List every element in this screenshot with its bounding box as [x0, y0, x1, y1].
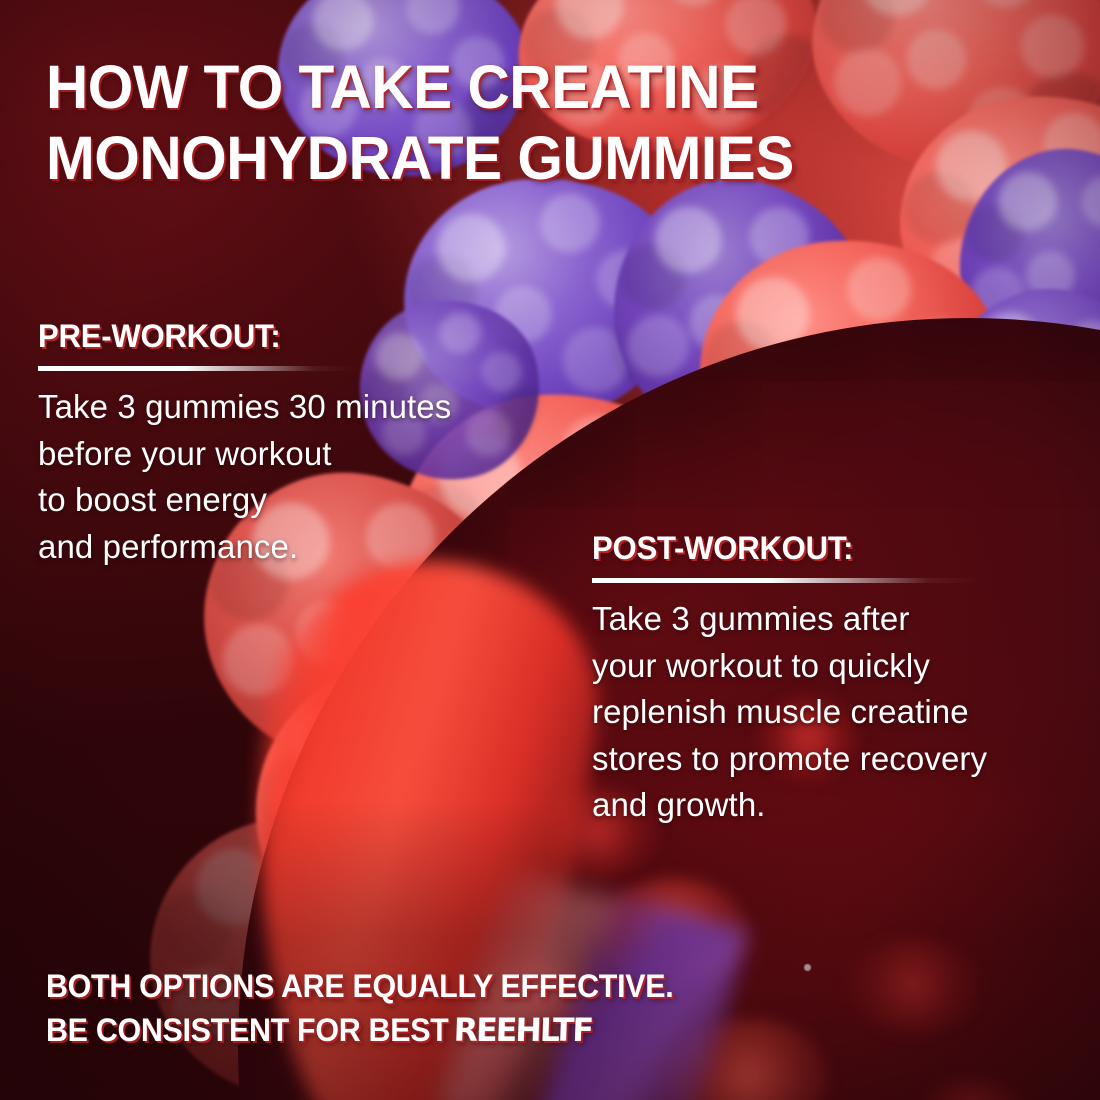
title-line-2: MONOHYDRATE GUMMIES — [46, 123, 968, 194]
footer-garbled-word: REEHLTF — [453, 1008, 593, 1052]
pre-body-line: before your workout — [38, 431, 468, 478]
footer-line-2: BE CONSISTENT FOR BEST REEHLTF — [46, 1008, 673, 1052]
pre-body-line: Take 3 gummies 30 minutes — [38, 384, 468, 431]
section-post-workout: POST-WORKOUT: Take 3 gummies after your … — [592, 530, 1080, 829]
infographic-poster: HOW TO TAKE CREATINE MONOHYDRATE GUMMIES… — [0, 0, 1100, 1100]
section-pre-workout: PRE-WORKOUT: Take 3 gummies 30 minutes b… — [38, 318, 468, 570]
pre-body-line: to boost energy — [38, 477, 468, 524]
pre-body-line: and performance. — [38, 524, 468, 571]
post-body-line: replenish muscle creatine — [592, 689, 1080, 736]
pre-workout-body: Take 3 gummies 30 minutes before your wo… — [38, 384, 468, 570]
post-body-line: stores to promote recovery — [592, 736, 1080, 783]
content-layer: HOW TO TAKE CREATINE MONOHYDRATE GUMMIES… — [0, 0, 1100, 1100]
footer-line-2-prefix: BE CONSISTENT FOR BEST — [46, 1012, 457, 1048]
poster-footer: BOTH OPTIONS ARE EQUALLY EFFECTIVE. BE C… — [46, 964, 673, 1052]
footer-line-1: BOTH OPTIONS ARE EQUALLY EFFECTIVE. — [46, 964, 673, 1008]
poster-title: HOW TO TAKE CREATINE MONOHYDRATE GUMMIES — [46, 52, 968, 194]
post-body-line: and growth. — [592, 782, 1080, 829]
post-workout-divider — [592, 578, 982, 583]
post-workout-heading: POST-WORKOUT: — [592, 530, 1065, 567]
pre-workout-divider — [38, 366, 358, 371]
post-workout-body: Take 3 gummies after your workout to qui… — [592, 596, 1080, 829]
pre-workout-heading: PRE-WORKOUT: — [38, 318, 455, 355]
title-line-1: HOW TO TAKE CREATINE — [46, 52, 968, 123]
post-body-line: your workout to quickly — [592, 643, 1080, 690]
post-body-line: Take 3 gummies after — [592, 596, 1080, 643]
